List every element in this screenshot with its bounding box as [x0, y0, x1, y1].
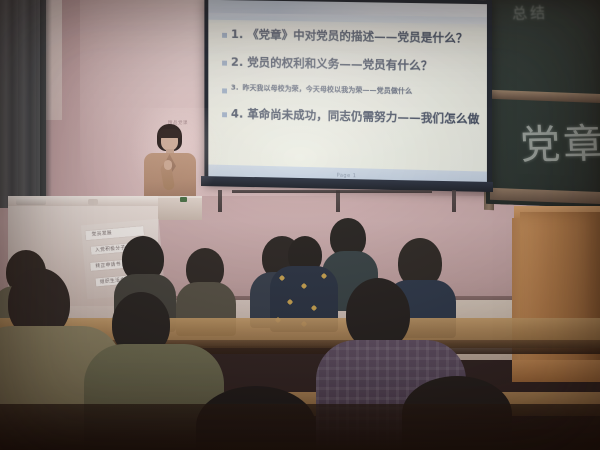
slide-bullet-4-text: 革命尚未成功，同志仍需努力——我们怎么做 [247, 108, 479, 126]
presenter-fringe [158, 129, 181, 138]
slide-bullet-4: 4. 革命尚未成功，同志仍需努力——我们怎么做 [222, 108, 475, 127]
blackboard-main-text: 党章 [519, 111, 600, 171]
presenter-hand [164, 160, 172, 170]
podium-object [180, 197, 187, 202]
classroom-photo: 总结 党章 1. 《党章》中对党员的描述——党员是什么？ 2. 党员的权利和义务… [0, 0, 600, 450]
screen-mount-right [452, 190, 456, 212]
slide-body: 1. 《党章》中对党员的描述——党员是什么？ 2. 党员的权利和义务——党员有什… [208, 20, 487, 172]
slide-bullet-3-text: 昨天我以母校为荣，今天母校以我为荣——党员做什么 [243, 84, 413, 96]
projection-slide: 1. 《党章》中对党员的描述——党员是什么？ 2. 党员的权利和义务——党员有什… [208, 0, 487, 185]
bullet-square-icon [222, 89, 227, 94]
slide-bullet-3-marker: 3. [231, 84, 239, 92]
curtain-edge-shadow [40, 0, 52, 208]
projection-screen: 1. 《党章》中对党员的描述——党员是什么？ 2. 党员的权利和义务——党员有什… [204, 0, 492, 192]
lectern [520, 212, 600, 382]
slide-bullet-1-text: 《党章》中对党员的描述——党员是什么？ [247, 28, 467, 45]
blackboard [486, 0, 600, 208]
slide-bullet-3: 3. 昨天我以母校为荣，今天母校以我为荣——党员做什么 [222, 84, 475, 99]
bullet-square-icon [222, 61, 227, 66]
slide-bullet-1-marker: 1. [231, 28, 243, 41]
slide-bullet-1: 1. 《党章》中对党员的描述——党员是什么？ [222, 28, 475, 46]
slide-bullet-2-text: 党员的权利和义务——党员有什么？ [247, 56, 432, 73]
presenter [140, 124, 200, 206]
wall-switch [88, 199, 98, 205]
wall-device [16, 198, 46, 205]
screen-cable [232, 190, 432, 193]
bullet-square-icon [222, 33, 227, 38]
foreground-shadow [0, 404, 600, 450]
blackboard-top-text: 总结 [511, 1, 548, 23]
slide-bullet-2: 2. 党员的权利和义务——党员有什么？ [222, 56, 475, 74]
slide-bullet-2-marker: 2. [231, 56, 243, 69]
lectern-base [512, 360, 600, 382]
slide-bullet-4-marker: 4. [231, 108, 243, 121]
screen-mount-center [336, 190, 340, 212]
